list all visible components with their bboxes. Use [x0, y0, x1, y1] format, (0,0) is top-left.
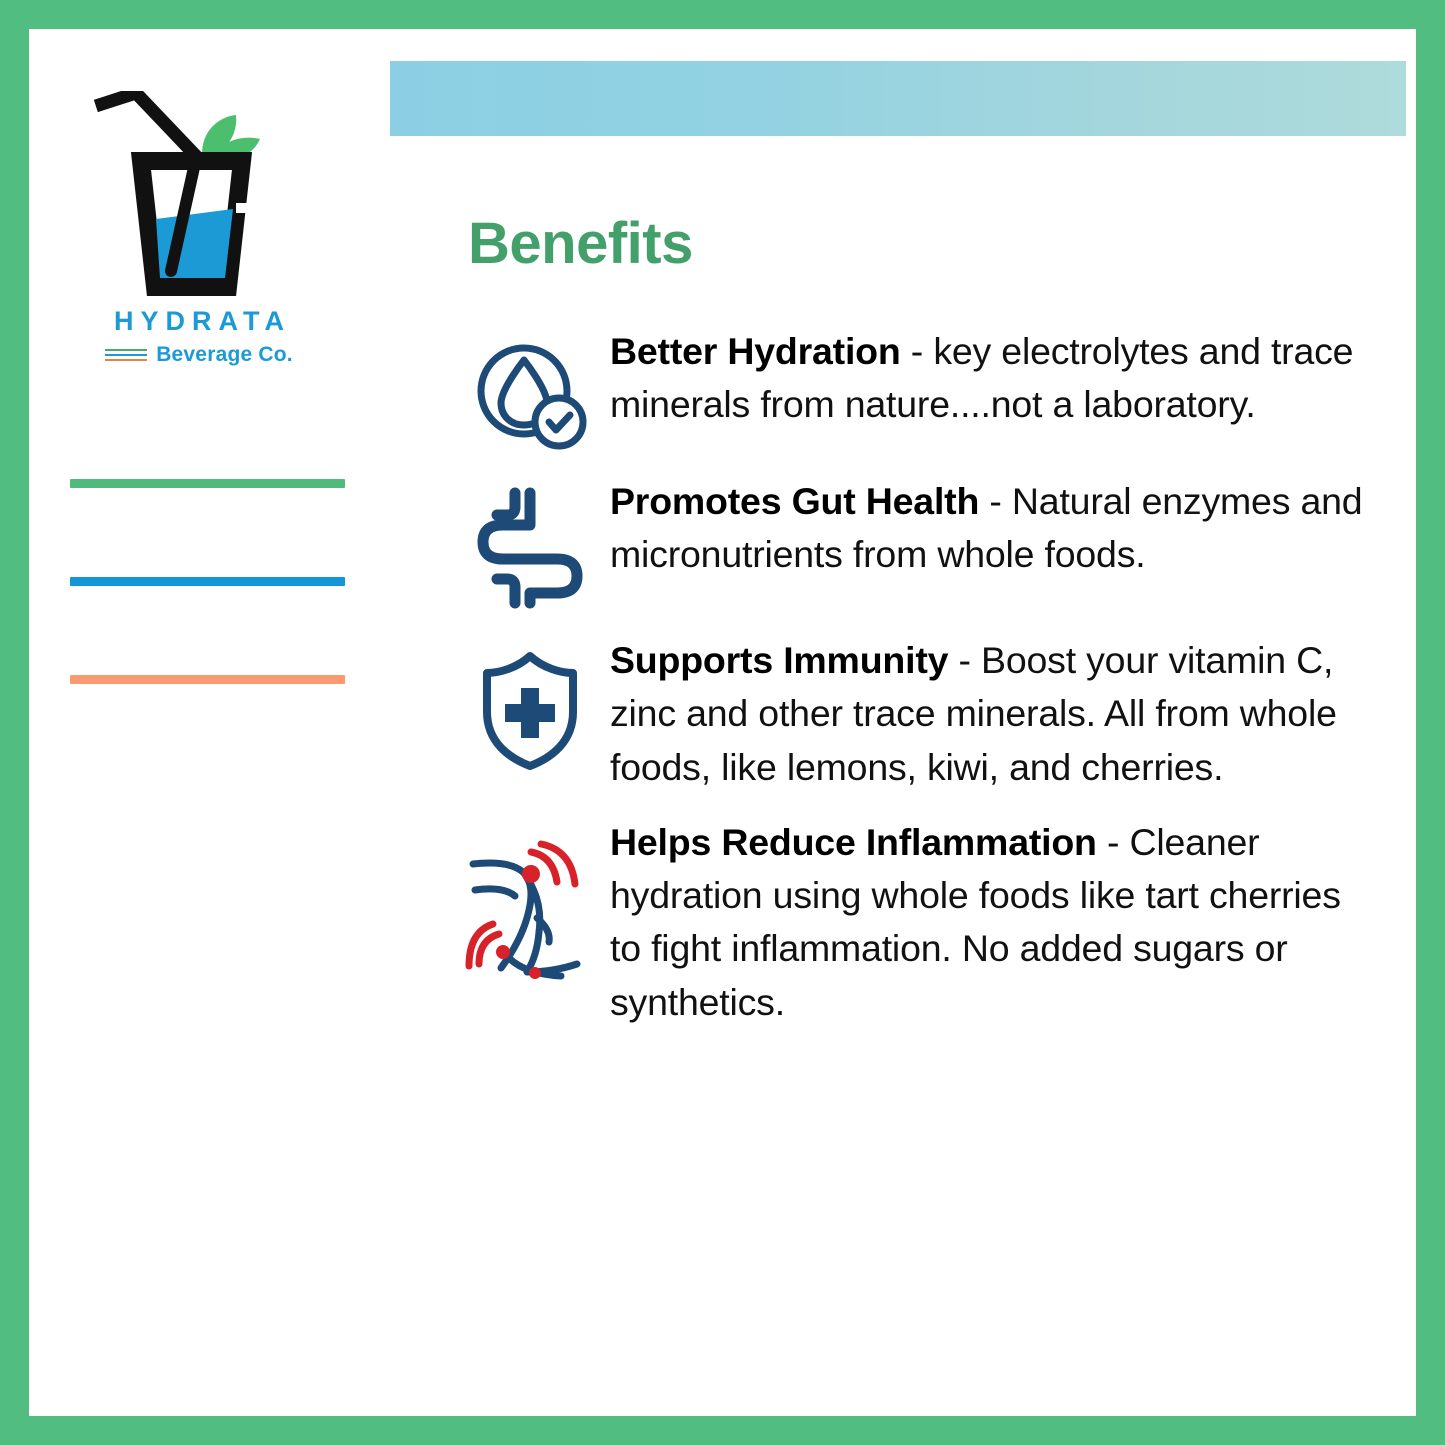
logo-subtitle: Beverage Co.: [156, 344, 293, 365]
content-column: Benefits Better Hydration - key electrol…: [390, 29, 1416, 1416]
inflamed-leg-icon: [450, 816, 610, 988]
list-item-separator: -: [979, 480, 1012, 522]
list-item-text: Better Hydration - key electrolytes and …: [610, 325, 1380, 432]
list-item: Helps Reduce Inflammation - Cleaner hydr…: [450, 816, 1380, 1029]
page-title: Benefits: [468, 215, 693, 273]
list-item-heading: Promotes Gut Health: [610, 480, 979, 522]
brand-sidebar: HYDRATA Beverage Co.: [29, 29, 369, 1416]
list-item-text: Supports Immunity - Boost your vitamin C…: [610, 634, 1380, 794]
divider-rule-orange: [70, 675, 345, 684]
logo-wordmark: HYDRATA: [39, 308, 359, 335]
list-item-heading: Better Hydration: [610, 330, 901, 372]
list-item-text: Promotes Gut Health - Natural enzymes an…: [610, 475, 1380, 582]
list-item-heading: Helps Reduce Inflammation: [610, 821, 1097, 863]
benefits-list: Better Hydration - key electrolytes and …: [450, 325, 1380, 1029]
list-item: Promotes Gut Health - Natural enzymes an…: [450, 475, 1380, 610]
shield-cross-icon: [450, 634, 610, 770]
glass-with-straw-and-leaves-icon: [94, 91, 304, 306]
list-item: Supports Immunity - Boost your vitamin C…: [450, 634, 1380, 794]
water-drop-check-icon: [450, 325, 610, 451]
intestine-gut-icon: [450, 475, 610, 610]
list-item-heading: Supports Immunity: [610, 639, 948, 681]
list-item-text: Helps Reduce Inflammation - Cleaner hydr…: [610, 816, 1380, 1029]
logo-triple-line-icon: [105, 349, 147, 361]
slide-canvas: HYDRATA Beverage Co. Benefits: [29, 29, 1416, 1416]
divider-rules: [70, 479, 345, 684]
divider-rule-green: [70, 479, 345, 488]
slide-frame: HYDRATA Beverage Co. Benefits: [0, 0, 1445, 1445]
list-item-separator: -: [901, 330, 934, 372]
logo: HYDRATA Beverage Co.: [39, 91, 359, 365]
list-item-separator: -: [1097, 821, 1130, 863]
header-banner: [390, 61, 1406, 136]
logo-subtitle-row: Beverage Co.: [39, 344, 359, 365]
list-item: Better Hydration - key electrolytes and …: [450, 325, 1380, 451]
divider-rule-blue: [70, 577, 345, 586]
list-item-separator: -: [948, 639, 981, 681]
